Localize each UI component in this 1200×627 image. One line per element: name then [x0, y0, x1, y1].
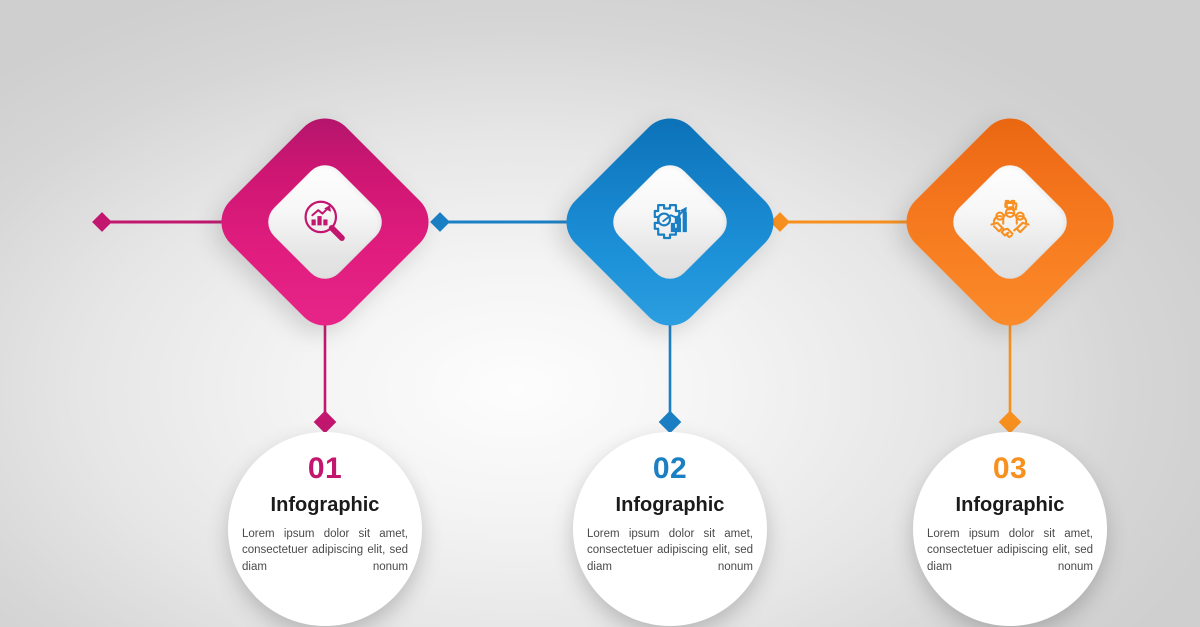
handshake-team-gear-icon: [974, 186, 1046, 258]
connector-dot-drop-2: [659, 411, 682, 434]
info-circle-1[interactable]: 01 Infographic Lorem ipsum dolor sit ame…: [228, 432, 422, 626]
step-body-2: Lorem ipsum dolor sit amet, consectetuer…: [587, 526, 753, 575]
step-node-2[interactable]: [588, 140, 752, 304]
step-number-3: 03: [993, 454, 1027, 484]
step-number-2: 02: [653, 454, 687, 484]
connector-dot-drop-1: [314, 411, 337, 434]
step-number-1: 01: [308, 454, 342, 484]
connector-dot-lead-in-2: [430, 212, 450, 232]
connector-dot-lead-in-1: [92, 212, 112, 232]
step-body-3: Lorem ipsum dolor sit amet, consectetuer…: [927, 526, 1093, 575]
step-node-1[interactable]: [243, 140, 407, 304]
info-circle-2[interactable]: 02 Infographic Lorem ipsum dolor sit ame…: [573, 432, 767, 626]
step-title-3: Infographic: [956, 495, 1065, 515]
info-circle-3[interactable]: 03 Infographic Lorem ipsum dolor sit ame…: [913, 432, 1107, 626]
step-node-3[interactable]: [928, 140, 1092, 304]
step-body-1: Lorem ipsum dolor sit amet, consectetuer…: [242, 526, 408, 575]
connector-dot-drop-3: [999, 411, 1022, 434]
gear-bar-chart-icon: [634, 186, 706, 258]
step-title-2: Infographic: [616, 495, 725, 515]
magnifier-bar-chart-icon: [289, 186, 361, 258]
step-title-1: Infographic: [271, 495, 380, 515]
infographic-canvas: 01 Infographic Lorem ipsum dolor sit ame…: [0, 0, 1200, 627]
